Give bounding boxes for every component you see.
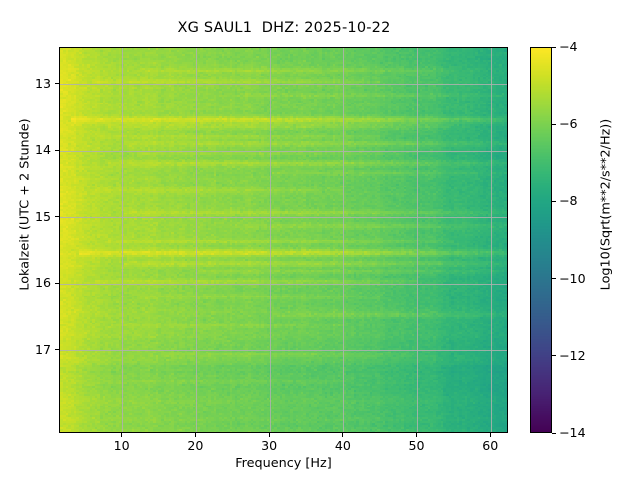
colorbar-tick bbox=[552, 433, 556, 434]
spectrogram-image bbox=[60, 48, 508, 433]
colorbar-tick bbox=[552, 278, 556, 279]
colorbar-tick-label: −12 bbox=[559, 348, 599, 363]
colorbar-tick-label: −8 bbox=[559, 193, 599, 208]
colorbar-tick-label: −6 bbox=[559, 116, 599, 131]
x-tick bbox=[121, 433, 122, 437]
x-tick-label: 60 bbox=[470, 438, 510, 453]
y-axis-label: Lokalzeit (UTC + 2 Stunde) bbox=[18, 12, 33, 398]
x-tick bbox=[416, 433, 417, 437]
spectrogram-plot-area bbox=[59, 47, 508, 433]
x-tick bbox=[269, 433, 270, 437]
figure-title: XG SAUL1 DHZ: 2025-10-22 bbox=[0, 20, 568, 36]
x-tick bbox=[490, 433, 491, 437]
y-tick bbox=[55, 283, 59, 284]
colorbar-tick-label: −10 bbox=[559, 271, 599, 286]
y-tick bbox=[55, 216, 59, 217]
spectrogram-figure: XG SAUL1 DHZ: 2025-10-22 102030405060131… bbox=[0, 0, 640, 480]
colorbar bbox=[530, 47, 552, 433]
colorbar-gradient bbox=[531, 48, 552, 433]
x-tick-label: 50 bbox=[397, 438, 437, 453]
colorbar-tick-label: −14 bbox=[559, 425, 599, 440]
colorbar-tick bbox=[552, 201, 556, 202]
colorbar-tick bbox=[552, 355, 556, 356]
x-tick-label: 30 bbox=[249, 438, 289, 453]
x-tick bbox=[195, 433, 196, 437]
y-tick bbox=[55, 150, 59, 151]
colorbar-tick bbox=[552, 124, 556, 125]
colorbar-tick bbox=[552, 47, 556, 48]
colorbar-label: Log10(Sqrt(m**2/s**2/Hz)) bbox=[599, 12, 614, 398]
colorbar-tick-label: −4 bbox=[559, 39, 599, 54]
x-axis-label: Frequency [Hz] bbox=[59, 456, 508, 471]
x-tick-label: 10 bbox=[102, 438, 142, 453]
y-tick bbox=[55, 83, 59, 84]
x-tick bbox=[342, 433, 343, 437]
x-tick-label: 40 bbox=[323, 438, 363, 453]
y-tick bbox=[55, 349, 59, 350]
x-tick-label: 20 bbox=[175, 438, 215, 453]
